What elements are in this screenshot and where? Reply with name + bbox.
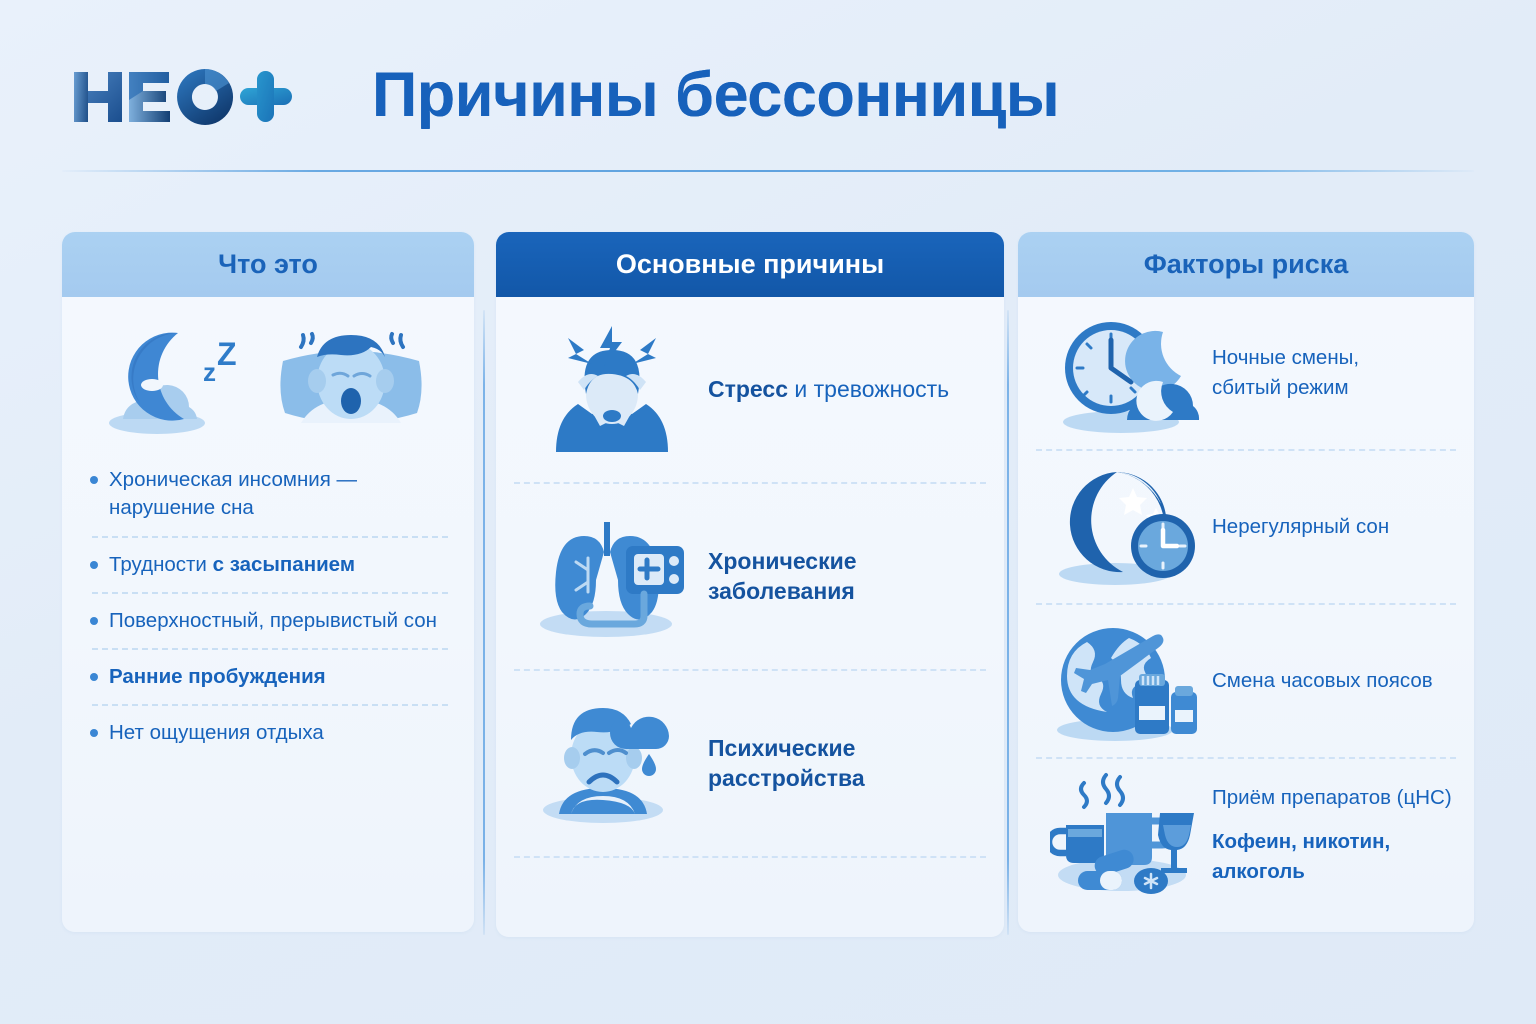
card-header-risk-factors: Факторы риска [1018, 232, 1474, 297]
bullet-dot [90, 729, 98, 737]
risk-row-jetlag: Смена часовых поясов [1018, 605, 1474, 757]
lungs-blood-pressure-monitor-icon [522, 512, 702, 642]
infographic-page: Причины бессонницы Что это z [0, 0, 1536, 1024]
cause-row-stress: Стресс и тревожность [496, 297, 1004, 482]
cause-row-chronic: Хронические заболевания [496, 484, 1004, 669]
list-item: Поверхностный, прерывистый сон [86, 594, 454, 648]
clock-moon-cloud-icon [1040, 310, 1212, 436]
card-body-risk-factors: Ночные смены, сбитый режим [1018, 297, 1474, 932]
risk-label-substances: Приём препаратов (цНС) Кофеин, никотин, … [1212, 783, 1456, 886]
list-item-label: Нет ощущения отдыха [109, 719, 324, 747]
coffee-wine-pills-icon [1040, 767, 1212, 903]
globe-airplane-pills-icon [1040, 618, 1212, 744]
list-item-label: Трудности с засыпанием [109, 551, 355, 579]
list-item-label: Поверхностный, прерывистый сон [109, 607, 437, 635]
column-divider-2 [1007, 310, 1009, 935]
column-divider-1 [483, 310, 485, 935]
cause-label-chronic: Хронические заболевания [702, 547, 980, 607]
page-title: Причины бессонницы [372, 62, 1059, 128]
list-item-label: Хроническая инсомния — нарушение сна [109, 466, 450, 523]
bullet-dot [90, 561, 98, 569]
stressed-head-lightning-icon [522, 324, 702, 456]
cause-separator [514, 856, 986, 858]
what-is-it-list: Хроническая инсомния — нарушение сна Тру… [62, 453, 474, 761]
cause-label-mental: Психические расстройства [702, 734, 980, 794]
card-what-is-it: Что это z Z [62, 232, 474, 932]
risk-label-jetlag: Смена часовых поясов [1212, 666, 1433, 696]
columns-container: Что это z Z [0, 232, 1536, 952]
list-item: Нет ощущения отдыха [86, 706, 454, 760]
cause-label-stress: Стресс и тревожность [702, 375, 949, 405]
card-body-main-causes: Стресс и тревожность [496, 297, 1004, 937]
card-risk-factors: Факторы риска [1018, 232, 1474, 932]
moon-stars-clock-icon [1040, 464, 1212, 590]
risk-label-irregular-sleep: Нерегулярный сон [1212, 512, 1389, 542]
list-item-label: Ранние пробуждения [109, 663, 326, 691]
cause-row-mental: Психические расстройства [496, 671, 1004, 856]
risk-row-substances: Приём препаратов (цНС) Кофеин, никотин, … [1018, 759, 1474, 911]
card-body-what-is-it: z Z [62, 297, 474, 932]
list-item: Трудности с засыпанием [86, 538, 454, 592]
crescent-moon-zzz-icon: z Z [105, 319, 253, 437]
neo-plus-logo [72, 66, 294, 128]
card-main-causes: Основные причины [496, 232, 1004, 937]
risk-row-night-shifts: Ночные смены, сбитый режим [1018, 297, 1474, 449]
list-item: Ранние пробуждения [86, 650, 454, 704]
page-header: Причины бессонницы [0, 0, 1536, 172]
bullet-dot [90, 617, 98, 625]
list-item: Хроническая инсомния — нарушение сна [86, 453, 454, 536]
svg-text:z: z [203, 357, 216, 387]
card-header-main-causes: Основные причины [496, 232, 1004, 297]
bullet-dot [90, 673, 98, 681]
card-header-what-is-it: Что это [62, 232, 474, 297]
sad-face-rain-cloud-icon [522, 698, 702, 830]
svg-text:Z: Z [217, 336, 237, 372]
header-divider [62, 170, 1474, 172]
what-is-it-illustration: z Z [62, 297, 474, 453]
risk-row-irregular-sleep: Нерегулярный сон [1018, 451, 1474, 603]
bullet-dot [90, 476, 98, 484]
yawning-person-pillow-icon [271, 319, 431, 437]
risk-label-night-shifts: Ночные смены, сбитый режим [1212, 343, 1359, 402]
